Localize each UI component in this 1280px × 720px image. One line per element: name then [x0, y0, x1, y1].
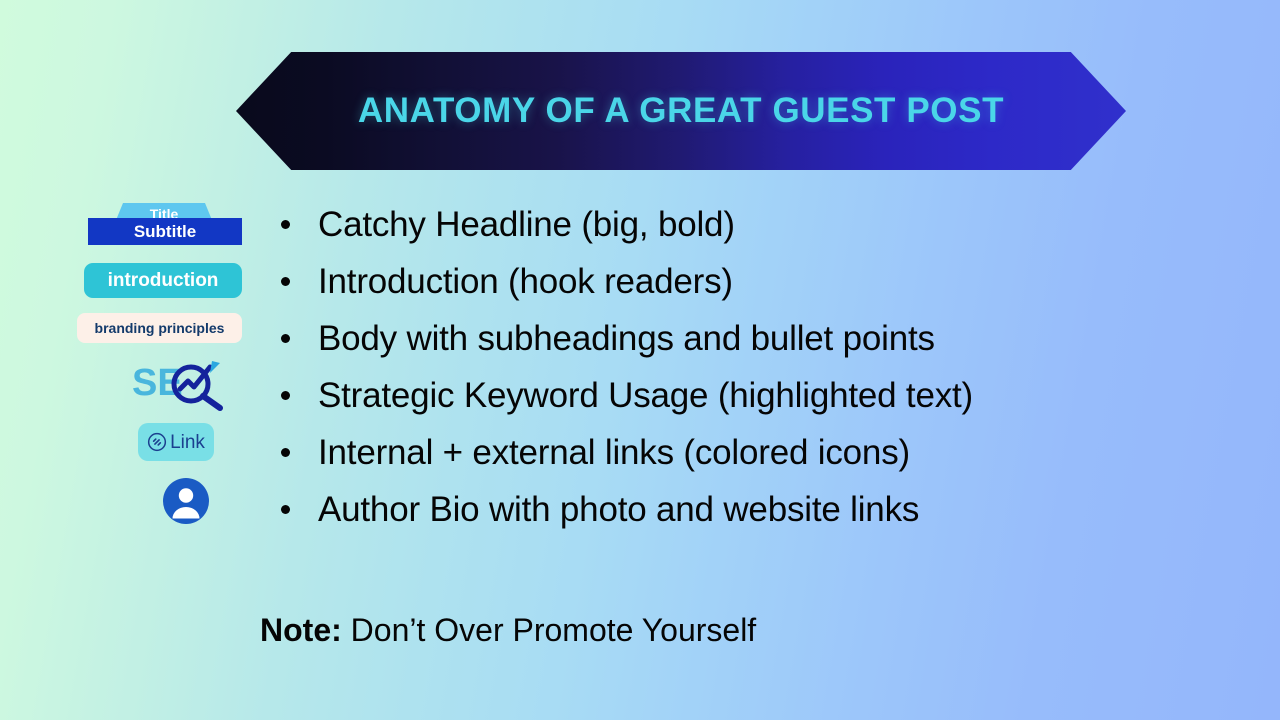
bullet-dot-icon	[281, 334, 290, 343]
list-item: Strategic Keyword Usage (highlighted tex…	[281, 367, 1241, 424]
bullet-dot-icon	[281, 505, 290, 514]
icon-row-title-card: Title Subtitle	[62, 198, 242, 250]
list-item-label: Strategic Keyword Usage (highlighted tex…	[318, 376, 973, 416]
list-item-label: Catchy Headline (big, bold)	[318, 205, 735, 245]
subtitle-label: Subtitle	[134, 223, 196, 240]
bullet-dot-icon	[281, 277, 290, 286]
list-item-label: Author Bio with photo and website links	[318, 490, 919, 530]
list-item: Body with subheadings and bullet points	[281, 310, 1241, 367]
bullet-list: Catchy Headline (big, bold) Introduction…	[281, 196, 1241, 538]
title-subtitle-card: Title Subtitle	[88, 203, 242, 245]
icon-row-link: Link	[62, 418, 242, 466]
link-icon	[147, 432, 167, 452]
branding-principles-pill: branding principles	[77, 313, 242, 343]
note-text: Don’t Over Promote Yourself	[342, 612, 756, 648]
introduction-pill: introduction	[84, 263, 242, 298]
list-item-label: Introduction (hook readers)	[318, 262, 733, 302]
avatar-icon	[162, 477, 210, 525]
bullet-dot-icon	[281, 391, 290, 400]
banner-chevron: ANATOMY OF A GREAT GUEST POST	[236, 52, 1126, 170]
list-item: Catchy Headline (big, bold)	[281, 196, 1241, 253]
list-item: Introduction (hook readers)	[281, 253, 1241, 310]
page-title: ANATOMY OF A GREAT GUEST POST	[358, 91, 1004, 131]
subtitle-bar: Subtitle	[88, 218, 242, 245]
icon-column: Title Subtitle introduction branding pri…	[62, 198, 242, 528]
icon-row-avatar	[62, 474, 242, 528]
branding-principles-label: branding principles	[95, 321, 225, 335]
link-badge: Link	[138, 423, 214, 461]
note-label: Note:	[260, 612, 342, 648]
introduction-pill-label: introduction	[108, 271, 219, 290]
icon-row-seo: SE	[62, 358, 242, 412]
list-item-label: Internal + external links (colored icons…	[318, 433, 910, 473]
icon-row-introduction: introduction	[62, 260, 242, 300]
bullet-dot-icon	[281, 448, 290, 457]
list-item: Internal + external links (colored icons…	[281, 424, 1241, 481]
note-line: Note: Don’t Over Promote Yourself	[260, 612, 756, 649]
bullet-dot-icon	[281, 220, 290, 229]
slide-canvas: ANATOMY OF A GREAT GUEST POST Title Subt…	[0, 0, 1280, 720]
icon-row-branding: branding principles	[62, 310, 242, 346]
link-badge-label: Link	[170, 433, 205, 452]
seo-icon-svg: SE	[132, 359, 238, 411]
list-item: Author Bio with photo and website links	[281, 481, 1241, 538]
seo-icon: SE	[132, 359, 238, 411]
list-item-label: Body with subheadings and bullet points	[318, 319, 935, 359]
